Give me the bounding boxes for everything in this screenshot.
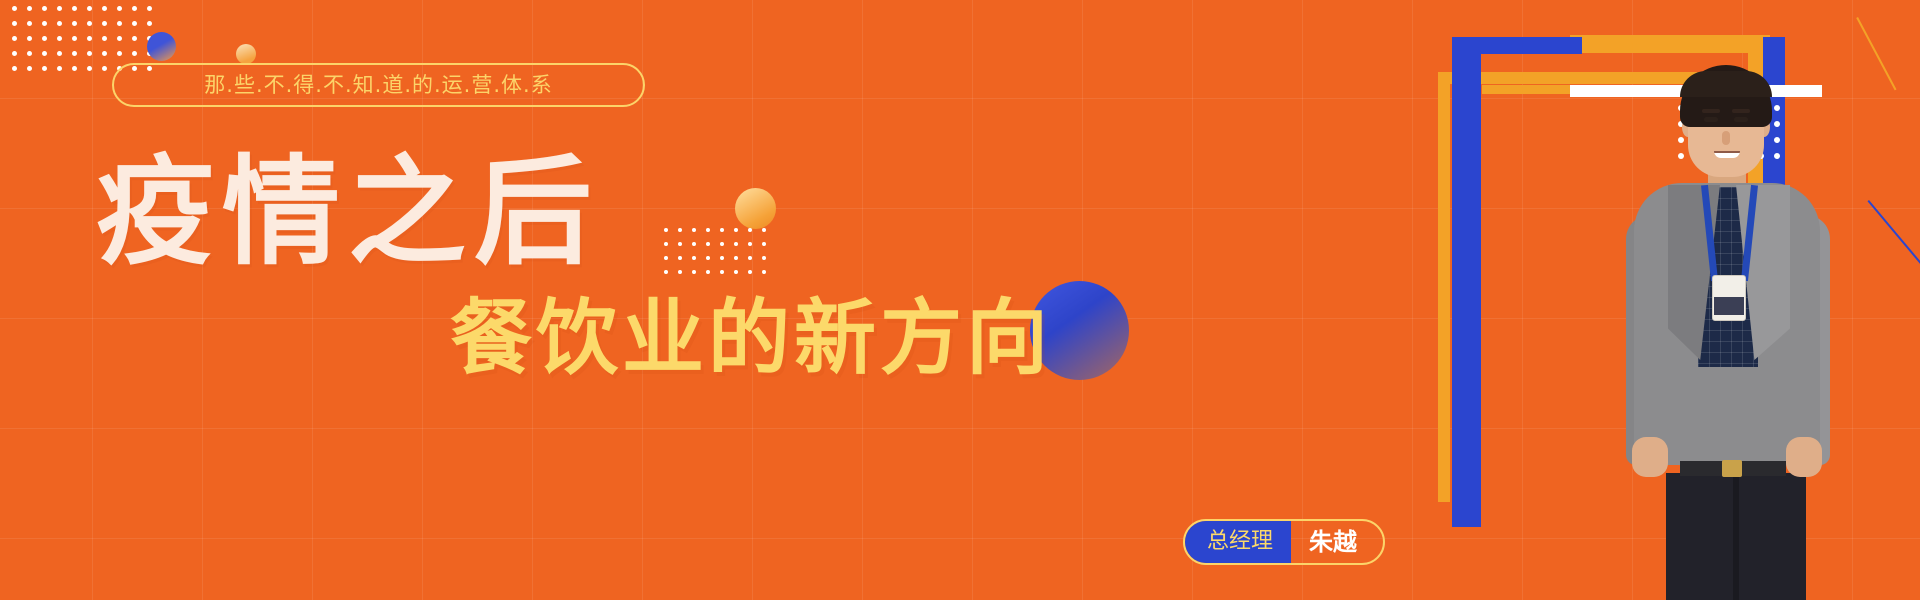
portrait-hand-right (1786, 437, 1822, 477)
portrait-eyebrow-left (1702, 109, 1720, 113)
tagline-text: 那.些.不.得.不.知.道.的.运.营.体.系 (204, 75, 552, 96)
banner-canvas: 那.些.不.得.不.知.道.的.运.营.体.系 疫情之后 餐饮业的新方向 总经理… (0, 0, 1920, 600)
speaker-portrait (1570, 65, 1870, 600)
portrait-hand-left (1632, 437, 1668, 477)
headline-primary: 疫情之后 (96, 153, 600, 271)
dot-matrix-center (664, 228, 776, 284)
frame-bar-blue-top (1452, 37, 1582, 54)
portrait-eyebrow-right (1732, 109, 1750, 113)
frame-bar-blue-left (1452, 37, 1481, 527)
portrait-eye-left (1704, 117, 1718, 122)
decor-circle-amber-medium (735, 188, 776, 229)
portrait-leg-gap (1733, 473, 1739, 600)
speaker-name: 朱越 (1291, 521, 1383, 563)
speaker-role: 总经理 (1185, 521, 1291, 563)
portrait-hair-top (1680, 71, 1772, 97)
decor-circle-amber-small (236, 44, 256, 64)
tagline-pill: 那.些.不.得.不.知.道.的.运.营.体.系 (112, 63, 645, 107)
portrait-mouth (1714, 151, 1740, 158)
frame-bar-orange-left (1438, 72, 1450, 502)
portrait-eye-right (1734, 117, 1748, 122)
portrait-belt-buckle (1722, 460, 1742, 477)
frame-bar-orange-top-outer (1570, 35, 1770, 53)
portrait-id-card-strip (1714, 297, 1744, 315)
decor-circle-blue-small (147, 32, 176, 61)
frame-bar-orange-inner (1482, 85, 1572, 94)
headline-secondary: 餐饮业的新方向 (450, 298, 1052, 380)
speaker-badge: 总经理 朱越 (1183, 519, 1385, 565)
diagonal-line-blue (1867, 200, 1920, 347)
portrait-nose (1722, 131, 1730, 145)
